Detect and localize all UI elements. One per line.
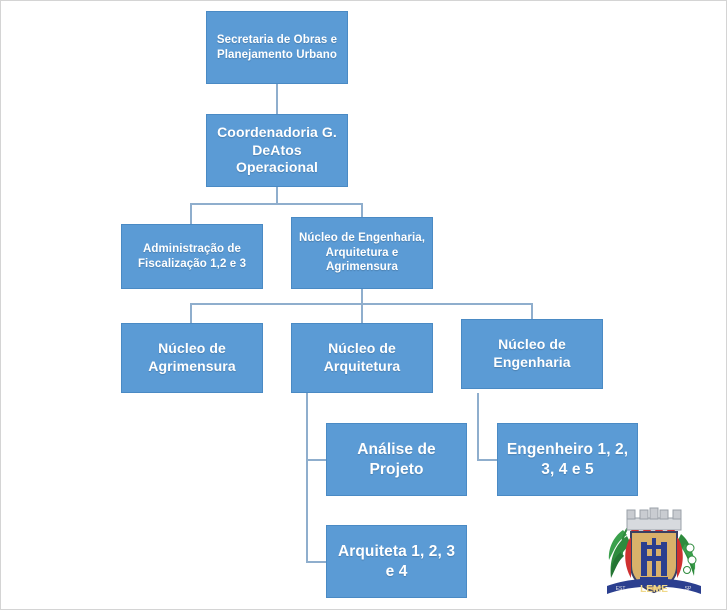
node-administracao-fiscalizacao[interactable]: Administração de Fiscalização 1,2 e 3 (121, 224, 263, 289)
connector-engenharia-spine (477, 393, 479, 460)
node-nucleo-arquitetura-label: Núcleo de Arquitetura (298, 340, 426, 376)
node-nucleo-engenharia-label: Núcleo de Engenharia (468, 336, 596, 372)
node-nucleo-eng-arq-agr[interactable]: Núcleo de Engenharia, Arquitetura e Agri… (291, 217, 433, 289)
connector-row4-mid-drop (361, 303, 363, 324)
leme-coat-of-arms-icon: LEME EST. SP (593, 504, 715, 604)
node-secretaria[interactable]: Secretaria de Obras e Planejamento Urban… (206, 11, 348, 84)
crest-ribbon-icon: LEME EST. SP (607, 579, 701, 596)
node-nucleo-engenharia[interactable]: Núcleo de Engenharia (461, 319, 603, 389)
node-analise-projeto-label: Análise de Projeto (333, 440, 460, 480)
connector-row3-bus (190, 203, 363, 205)
node-arquitetas-label: Arquiteta 1, 2, 3 e 4 (333, 542, 460, 582)
node-coordenadoria[interactable]: Coordenadoria G. DeAtos Operacional (206, 114, 348, 187)
crest-ribbon-label: LEME (640, 584, 668, 595)
node-analise-projeto[interactable]: Análise de Projeto (326, 423, 467, 496)
connector-secretaria-coordenadoria (276, 84, 278, 114)
connector-coordenadoria-down (276, 187, 278, 204)
node-engenheiros-label: Engenheiro 1, 2, 3, 4 e 5 (504, 440, 631, 480)
node-coordenadoria-label: Coordenadoria G. DeAtos Operacional (213, 124, 341, 178)
crest-ribbon-right-label: SP (685, 586, 692, 592)
connector-engenharia-to-engenheiro (477, 459, 497, 461)
node-nucleo-agrimensura-label: Núcleo de Agrimensura (128, 340, 256, 376)
node-engenheiros[interactable]: Engenheiro 1, 2, 3, 4 e 5 (497, 423, 638, 496)
node-secretaria-label: Secretaria de Obras e Planejamento Urban… (213, 33, 341, 62)
node-nucleo-eng-arq-agr-label: Núcleo de Engenharia, Arquitetura e Agri… (298, 231, 426, 275)
connector-row4-left-drop (190, 303, 192, 324)
node-arquitetas[interactable]: Arquiteta 1, 2, 3 e 4 (326, 525, 467, 598)
node-nucleo-arquitetura[interactable]: Núcleo de Arquitetura (291, 323, 433, 393)
connector-arquitetura-spine (306, 393, 308, 562)
connector-arquitetura-to-arquiteta (306, 561, 326, 563)
connector-row3-left-drop (190, 203, 192, 224)
node-nucleo-agrimensura[interactable]: Núcleo de Agrimensura (121, 323, 263, 393)
crest-ribbon-left-label: EST. (616, 586, 627, 592)
connector-nucleo-down (361, 289, 363, 304)
connector-arquitetura-to-analise (306, 459, 326, 461)
node-administracao-fiscalizacao-label: Administração de Fiscalização 1,2 e 3 (128, 242, 256, 271)
org-chart-canvas: Secretaria de Obras e Planejamento Urban… (0, 0, 727, 610)
